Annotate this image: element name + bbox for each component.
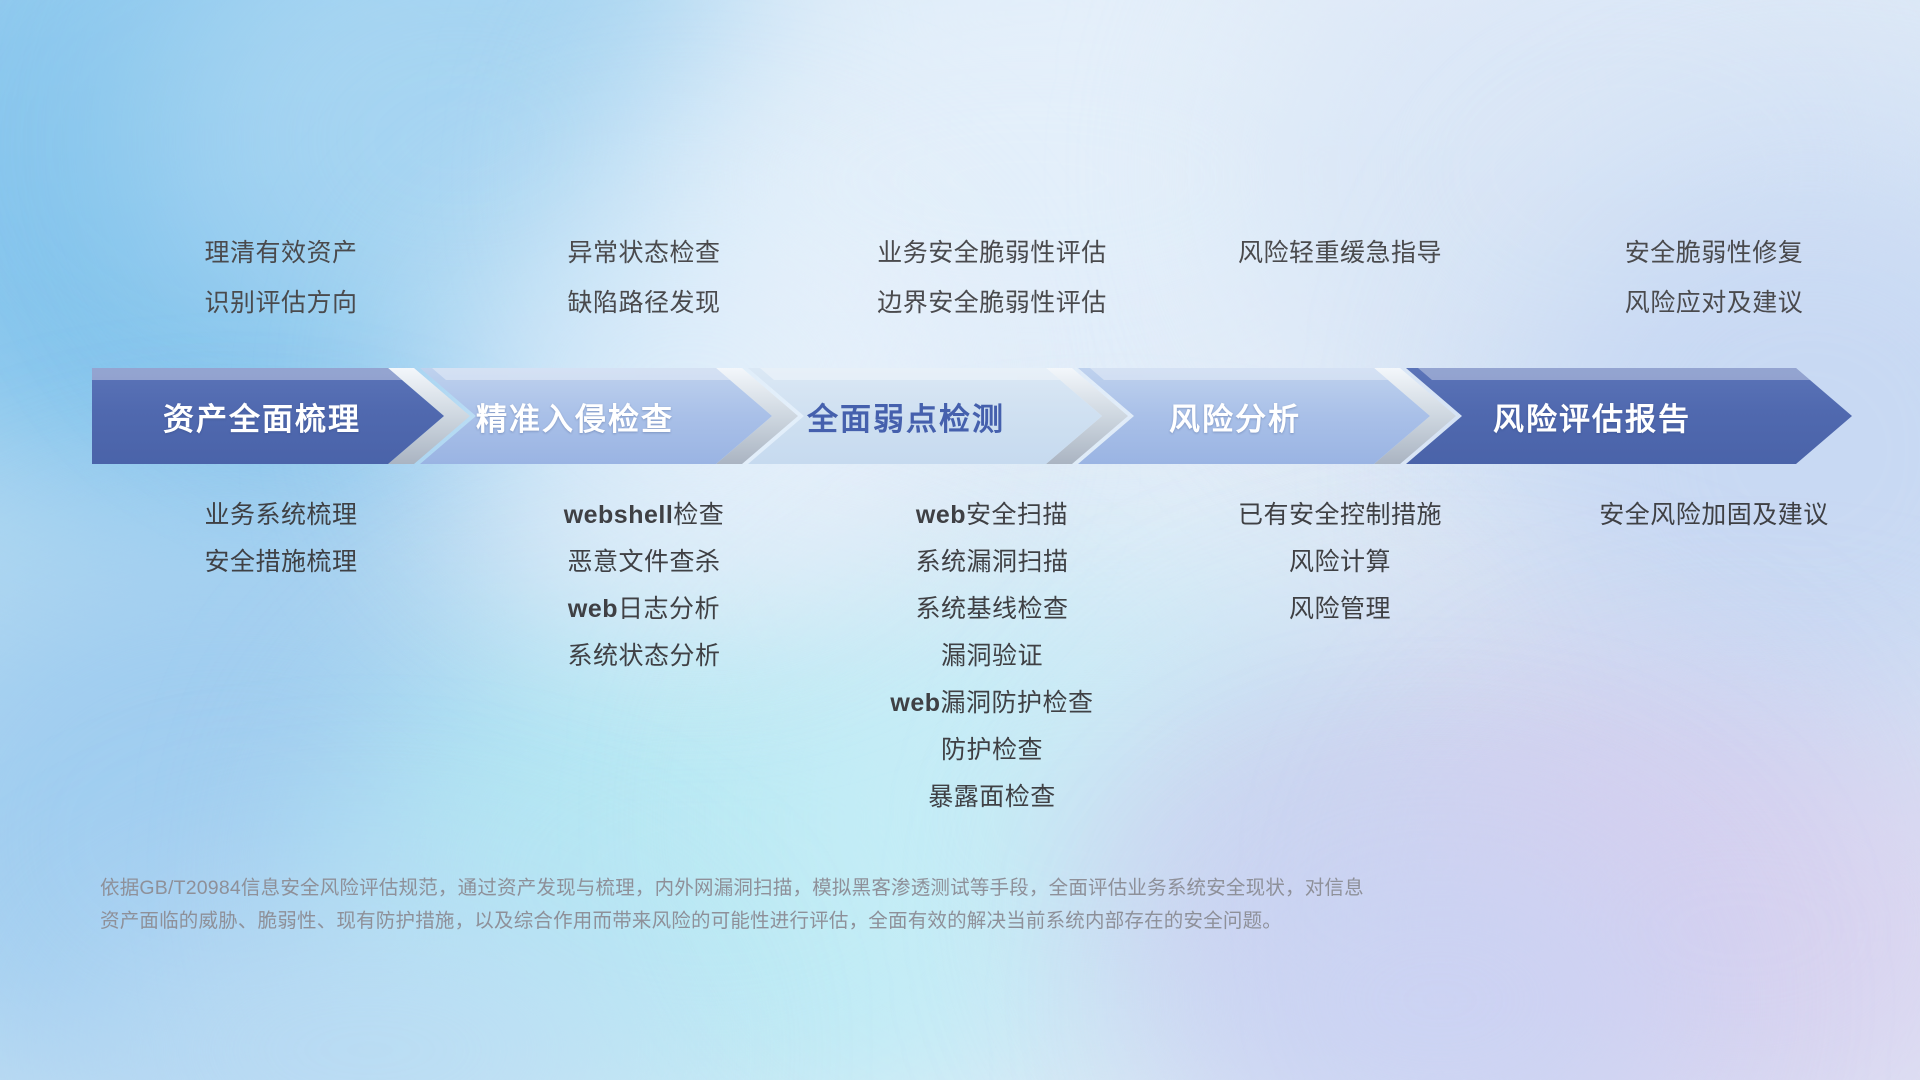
bottom-item: 恶意文件查杀 <box>567 539 720 586</box>
stage-bottom-group-1: 业务系统梳理安全措施梳理 <box>92 492 470 586</box>
stage-top-group-5: 安全脆弱性修复 风险应对及建议 <box>1514 228 1914 328</box>
bottom-item: 风险管理 <box>1289 586 1391 633</box>
bottom-item: 漏洞验证 <box>941 633 1043 680</box>
top-item: 风险应对及建议 <box>1625 278 1804 328</box>
chevron-label-2[interactable]: 精准入侵检查 <box>410 368 740 464</box>
top-item: 风险轻重缓急指导 <box>1238 228 1442 278</box>
bottom-item: web日志分析 <box>568 586 720 633</box>
top-item: 异常状态检查 <box>567 228 720 278</box>
stage-bottom-group-4: 已有安全控制措施风险计算风险管理 <box>1166 492 1514 633</box>
stage-bottom-labels: 业务系统梳理安全措施梳理 webshell检查恶意文件查杀web日志分析系统状态… <box>0 492 1920 821</box>
bottom-item: 安全风险加固及建议 <box>1599 492 1829 539</box>
chevron-label-5[interactable]: 风险评估报告 <box>1392 368 1792 464</box>
footer-description: 依据GB/T20984信息安全风险评估规范，通过资产发现与梳理，内外网漏洞扫描，… <box>100 872 1840 938</box>
stage-bottom-group-5: 安全风险加固及建议 <box>1514 492 1914 539</box>
top-item: 缺陷路径发现 <box>567 278 720 328</box>
top-item: 业务安全脆弱性评估 <box>877 228 1107 278</box>
bottom-item: 业务系统梳理 <box>204 492 357 539</box>
top-item: 识别评估方向 <box>204 278 357 328</box>
bottom-item: 暴露面检查 <box>928 774 1056 821</box>
process-chevron-band: 资产全面梳理 精准入侵检查 全面弱点检测 风险分析 风险评估报告 <box>92 368 1852 464</box>
top-item: 边界安全脆弱性评估 <box>877 278 1107 328</box>
footer-line-1: 依据GB/T20984信息安全风险评估规范，通过资产发现与梳理，内外网漏洞扫描，… <box>100 872 1840 905</box>
bottom-item: 系统状态分析 <box>567 633 720 680</box>
infographic-canvas: 理清有效资产 识别评估方向 异常状态检查 缺陷路径发现 业务安全脆弱性评估 边界… <box>0 0 1920 1080</box>
top-item: 理清有效资产 <box>204 228 357 278</box>
stage-bottom-group-3: web安全扫描系统漏洞扫描系统基线检查漏洞验证web漏洞防护检查防护检查暴露面检… <box>818 492 1166 821</box>
bottom-item: 防护检查 <box>941 727 1043 774</box>
footer-line-2: 资产面临的威胁、脆弱性、现有防护措施，以及综合作用而带来风险的可能性进行评估，全… <box>100 905 1840 938</box>
chevron-label-3[interactable]: 全面弱点检测 <box>736 368 1076 464</box>
top-item: 安全脆弱性修复 <box>1625 228 1804 278</box>
stage-top-labels: 理清有效资产 识别评估方向 异常状态检查 缺陷路径发现 业务安全脆弱性评估 边界… <box>0 228 1920 328</box>
chevron-label-4[interactable]: 风险分析 <box>1070 368 1400 464</box>
stage-top-group-4: 风险轻重缓急指导 <box>1166 228 1514 328</box>
bottom-item: webshell检查 <box>564 492 725 539</box>
stage-top-group-2: 异常状态检查 缺陷路径发现 <box>470 228 818 328</box>
stage-top-group-3: 业务安全脆弱性评估 边界安全脆弱性评估 <box>818 228 1166 328</box>
bottom-item: 系统基线检查 <box>915 586 1068 633</box>
bottom-item: web漏洞防护检查 <box>890 680 1093 727</box>
stage-top-group-1: 理清有效资产 识别评估方向 <box>92 228 470 328</box>
bottom-item: 风险计算 <box>1289 539 1391 586</box>
bottom-item: web安全扫描 <box>916 492 1068 539</box>
bottom-item: 安全措施梳理 <box>204 539 357 586</box>
bottom-item: 系统漏洞扫描 <box>915 539 1068 586</box>
chevron-label-1[interactable]: 资产全面梳理 <box>92 368 432 464</box>
stage-bottom-group-2: webshell检查恶意文件查杀web日志分析系统状态分析 <box>470 492 818 680</box>
bottom-item: 已有安全控制措施 <box>1238 492 1442 539</box>
